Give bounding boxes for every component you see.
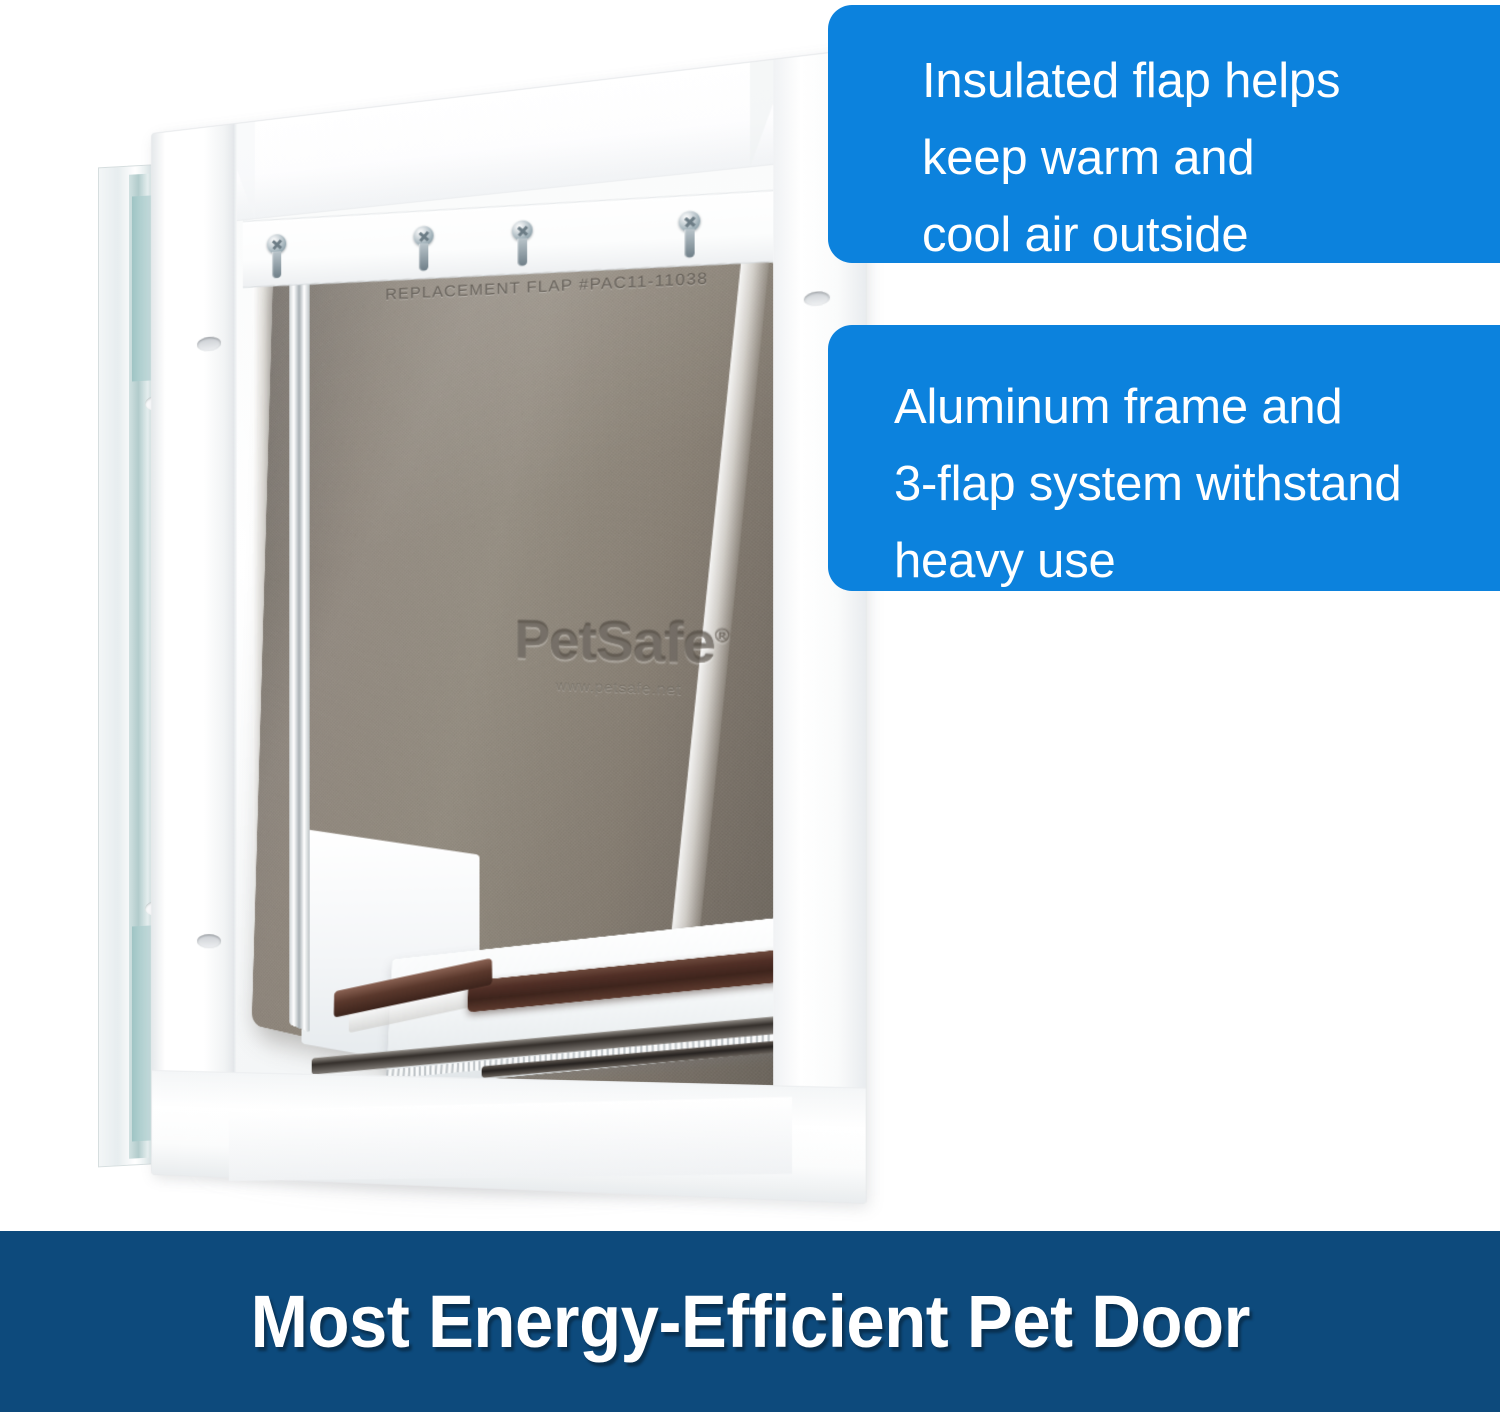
- pet-door-product-image: REPLACEMENT FLAP #PAC11-11038 PetSafe® w…: [80, 110, 870, 1180]
- feature-callout-aluminum-frame: Aluminum frame and 3-flap system withsta…: [828, 325, 1500, 591]
- registered-mark-icon: ®: [715, 626, 729, 647]
- flap-side-channel: [289, 283, 310, 1033]
- door-opening: REPLACEMENT FLAP #PAC11-11038 PetSafe® w…: [237, 165, 773, 1085]
- mounting-hole-left-lower: [197, 934, 221, 948]
- feature-callout-insulated-flap-text: Insulated flap helps keep warm and cool …: [828, 5, 1500, 274]
- screw-slot-3: [517, 238, 527, 266]
- brand-wordmark: PetSafe®: [514, 609, 728, 677]
- petsafe-brand-emboss: PetSafe® www.petsafe.net: [514, 609, 728, 699]
- screw-slot-1: [272, 251, 281, 278]
- feature-callout-insulated-flap: Insulated flap helps keep warm and cool …: [828, 5, 1500, 263]
- screw-slot-2: [419, 243, 429, 271]
- product-feature-image: REPLACEMENT FLAP #PAC11-11038 PetSafe® w…: [0, 0, 1500, 1412]
- feature-callout-aluminum-frame-text: Aluminum frame and 3-flap system withsta…: [828, 325, 1500, 600]
- front-aluminum-frame: REPLACEMENT FLAP #PAC11-11038 PetSafe® w…: [152, 49, 866, 1203]
- frame-left-stile: [152, 124, 237, 1178]
- bottom-banner: Most Energy-Efficient Pet Door: [0, 1231, 1500, 1412]
- mounting-hole-left-upper: [197, 336, 221, 352]
- banner-headline: Most Energy-Efficient Pet Door: [250, 1279, 1249, 1364]
- screw-slot-4: [684, 229, 694, 258]
- brand-name: PetSafe: [514, 610, 714, 676]
- mounting-hole-right-upper: [804, 290, 830, 307]
- sill-front-face: [229, 1097, 792, 1181]
- flap-assembly: REPLACEMENT FLAP #PAC11-11038 PetSafe® w…: [237, 165, 773, 1085]
